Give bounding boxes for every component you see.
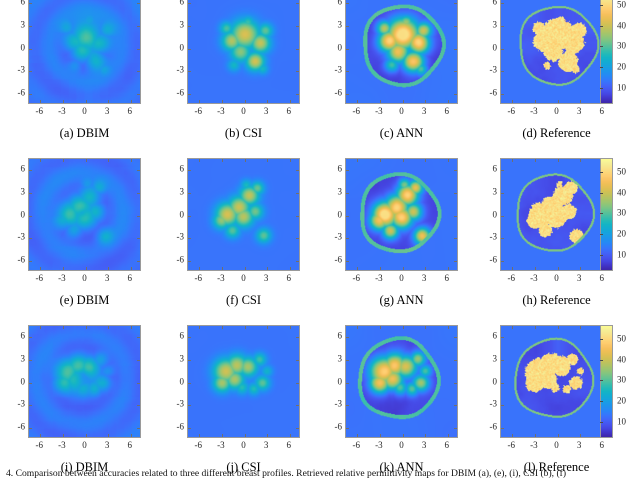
ytick-label-h--3: -3 [490, 233, 498, 242]
xtick-mark [222, 100, 223, 103]
ytick-label-l--3: -3 [490, 400, 498, 409]
ytick-mark [188, 26, 191, 27]
ytick-mark-right [137, 360, 140, 361]
ytick-mark [346, 360, 349, 361]
ytick-mark [188, 337, 191, 338]
xtick-mark [403, 434, 404, 437]
xtick-label-j-3: 3 [264, 441, 269, 450]
xtick-label-h--3: -3 [530, 274, 538, 283]
ytick-label-c-6: 6 [338, 0, 343, 7]
ytick-mark [188, 71, 191, 72]
ytick-mark [29, 3, 32, 4]
xtick-mark [40, 267, 41, 270]
xtick-mark-top [267, 159, 268, 162]
subplot-caption-g: (g) ANN [325, 293, 478, 307]
colorbar-tick-label-1-20: 20 [617, 63, 626, 72]
ytick-mark [501, 49, 504, 50]
ytick-mark-right [296, 193, 299, 194]
ytick-label-f-0: 0 [180, 210, 185, 219]
ytick-label-b--3: -3 [177, 66, 185, 75]
subplot-f-csi: -6-3036630-3-6 [187, 158, 300, 271]
xtick-mark [425, 434, 426, 437]
subplot-a-dbim: -6-3036630-3-6 [28, 0, 141, 104]
subplot-e-dbim: -6-3036630-3-6 [28, 158, 141, 271]
xtick-mark [108, 100, 109, 103]
ytick-label-a--6: -6 [18, 88, 26, 97]
colorbar-row-2: 5040302010 [600, 158, 613, 271]
ytick-label-i--6: -6 [18, 422, 26, 431]
xtick-label-f-6: 6 [286, 274, 291, 283]
ytick-mark [501, 26, 504, 27]
xtick-mark [131, 267, 132, 270]
ytick-label-a-6: 6 [21, 0, 26, 7]
ytick-mark [29, 238, 32, 239]
xtick-label-a--3: -3 [58, 107, 66, 116]
xtick-label-d-3: 3 [577, 107, 582, 116]
xtick-mark [245, 434, 246, 437]
ytick-mark [346, 170, 349, 171]
xtick-label-j-6: 6 [286, 441, 291, 450]
ytick-label-i-6: 6 [21, 332, 26, 341]
xtick-label-c-0: 0 [399, 107, 404, 116]
heatmap-image-f [187, 158, 300, 271]
colorbar-tick-label-3-40: 40 [617, 355, 626, 364]
ytick-mark [29, 405, 32, 406]
xtick-mark [558, 267, 559, 270]
ytick-mark [29, 94, 32, 95]
xtick-label-g--6: -6 [353, 274, 361, 283]
xtick-mark-top [290, 159, 291, 162]
xtick-mark [580, 434, 581, 437]
ytick-mark [29, 337, 32, 338]
ytick-mark-right [296, 337, 299, 338]
ytick-mark-right [454, 26, 457, 27]
ytick-mark [501, 360, 504, 361]
xtick-mark [86, 100, 87, 103]
xtick-label-i-0: 0 [82, 441, 87, 450]
heatmap-image-a [28, 0, 141, 104]
xtick-label-g-6: 6 [444, 274, 449, 283]
ytick-label-k-0: 0 [338, 377, 343, 386]
xtick-mark [558, 434, 559, 437]
ytick-mark [501, 261, 504, 262]
ytick-mark-right [454, 170, 457, 171]
xtick-mark-top [108, 159, 109, 162]
colorbar-tick-mark [600, 5, 603, 6]
ytick-label-j--6: -6 [177, 422, 185, 431]
ytick-label-g--6: -6 [335, 255, 343, 264]
heatmap-image-g [345, 158, 458, 271]
xtick-label-a-6: 6 [127, 107, 132, 116]
ytick-label-h--6: -6 [490, 255, 498, 264]
ytick-mark-right [137, 216, 140, 217]
ytick-label-l-3: 3 [493, 354, 498, 363]
xtick-mark [290, 100, 291, 103]
ytick-mark [501, 405, 504, 406]
xtick-mark [403, 267, 404, 270]
colorbar-tick-label-2-30: 30 [617, 209, 626, 218]
xtick-mark-top [380, 326, 381, 329]
xtick-mark [580, 100, 581, 103]
ytick-mark-right [454, 337, 457, 338]
xtick-label-f--6: -6 [195, 274, 203, 283]
ytick-label-j-6: 6 [180, 332, 185, 341]
ytick-label-a-0: 0 [21, 43, 26, 52]
ytick-label-j-3: 3 [180, 354, 185, 363]
xtick-mark-top [357, 159, 358, 162]
xtick-mark [199, 434, 200, 437]
heatmap-image-j [187, 325, 300, 438]
colorbar-tick-mark [600, 339, 603, 340]
xtick-label-g-3: 3 [422, 274, 427, 283]
subplot-c-ann: -6-3036630-3-6 [345, 0, 458, 104]
ytick-label-e-6: 6 [21, 165, 26, 174]
colorbar-tick-label-2-20: 20 [617, 230, 626, 239]
xtick-mark [512, 434, 513, 437]
ytick-mark-right [296, 383, 299, 384]
colorbar-tick-label-2-50: 50 [617, 168, 626, 177]
xtick-mark [357, 100, 358, 103]
ytick-mark [346, 238, 349, 239]
xtick-label-d--6: -6 [508, 107, 516, 116]
ytick-label-g-3: 3 [338, 187, 343, 196]
xtick-label-g--3: -3 [375, 274, 383, 283]
xtick-mark [403, 100, 404, 103]
ytick-mark [501, 383, 504, 384]
xtick-mark [40, 100, 41, 103]
xtick-mark [425, 267, 426, 270]
xtick-label-j-0: 0 [241, 441, 246, 450]
xtick-mark [267, 267, 268, 270]
xtick-mark-top [63, 159, 64, 162]
xtick-mark [558, 100, 559, 103]
subplot-caption-d: (d) Reference [480, 126, 633, 140]
ytick-label-d--6: -6 [490, 88, 498, 97]
ytick-mark [346, 216, 349, 217]
xtick-label-k--6: -6 [353, 441, 361, 450]
ytick-label-f-3: 3 [180, 187, 185, 196]
xtick-label-h-6: 6 [599, 274, 604, 283]
xtick-mark [86, 267, 87, 270]
ytick-mark-right [296, 261, 299, 262]
subplot-k-ann: -6-3036630-3-6 [345, 325, 458, 438]
ytick-label-d-0: 0 [493, 43, 498, 52]
xtick-mark [267, 434, 268, 437]
ytick-mark [501, 3, 504, 4]
heatmap-image-c [345, 0, 458, 104]
ytick-mark [346, 49, 349, 50]
ytick-mark [29, 71, 32, 72]
ytick-label-e--3: -3 [18, 233, 26, 242]
xtick-mark-top [222, 159, 223, 162]
ytick-mark-right [137, 94, 140, 95]
ytick-mark [346, 428, 349, 429]
xtick-label-l-0: 0 [554, 441, 559, 450]
xtick-mark [535, 100, 536, 103]
ytick-mark-right [137, 3, 140, 4]
ytick-label-e-3: 3 [21, 187, 26, 196]
ytick-mark [501, 193, 504, 194]
ytick-mark-right [137, 405, 140, 406]
colorbar-tick-mark [600, 234, 603, 235]
ytick-mark [188, 405, 191, 406]
subplot-h-reference: -6-3036630-3-6 [500, 158, 613, 271]
ytick-mark [188, 170, 191, 171]
xtick-mark-top [448, 326, 449, 329]
xtick-label-c-6: 6 [444, 107, 449, 116]
permittivity-map-canvas-b [188, 0, 299, 103]
colorbar-tick-label-1-40: 40 [617, 21, 626, 30]
subplot-caption-c: (c) ANN [325, 126, 478, 140]
xtick-mark [131, 100, 132, 103]
colorbar-tick-mark [600, 380, 603, 381]
xtick-mark-top [357, 326, 358, 329]
xtick-mark-top [222, 326, 223, 329]
xtick-mark [63, 100, 64, 103]
heatmap-image-i [28, 325, 141, 438]
subplot-caption-b: (b) CSI [167, 126, 320, 140]
colorbar-tick-mark [600, 67, 603, 68]
ytick-mark [188, 94, 191, 95]
xtick-mark-top [86, 326, 87, 329]
ytick-mark [29, 428, 32, 429]
ytick-mark-right [296, 428, 299, 429]
xtick-mark [448, 434, 449, 437]
ytick-label-c-3: 3 [338, 20, 343, 29]
ytick-label-d--3: -3 [490, 66, 498, 75]
xtick-mark [199, 100, 200, 103]
colorbar-tick-label-1-50: 50 [617, 1, 626, 10]
ytick-label-g-6: 6 [338, 165, 343, 174]
xtick-mark-top [425, 159, 426, 162]
xtick-mark-top [403, 326, 404, 329]
ytick-mark [501, 170, 504, 171]
xtick-mark-top [512, 159, 513, 162]
xtick-mark-top [199, 159, 200, 162]
ytick-mark-right [296, 26, 299, 27]
xtick-mark-top [131, 326, 132, 329]
ytick-mark [29, 170, 32, 171]
xtick-mark [199, 267, 200, 270]
xtick-label-d-6: 6 [599, 107, 604, 116]
xtick-label-f--3: -3 [217, 274, 225, 283]
xtick-mark [380, 434, 381, 437]
ytick-mark [501, 337, 504, 338]
xtick-mark [535, 267, 536, 270]
ytick-label-k-6: 6 [338, 332, 343, 341]
subplot-caption-a: (a) DBIM [8, 126, 161, 140]
ytick-mark [188, 261, 191, 262]
ytick-mark [501, 94, 504, 95]
subplot-j-csi: -6-3036630-3-6 [187, 325, 300, 438]
xtick-mark-top [380, 159, 381, 162]
xtick-label-c--6: -6 [353, 107, 361, 116]
xtick-mark [222, 434, 223, 437]
colorbar-tick-mark [600, 255, 603, 256]
ytick-mark-right [454, 71, 457, 72]
xtick-mark-top [267, 326, 268, 329]
permittivity-map-canvas-g [346, 159, 457, 270]
ytick-label-b-6: 6 [180, 0, 185, 7]
ytick-mark [501, 238, 504, 239]
ytick-mark-right [296, 49, 299, 50]
ytick-mark [188, 428, 191, 429]
xtick-mark [448, 100, 449, 103]
xtick-mark [131, 434, 132, 437]
ytick-mark [29, 383, 32, 384]
ytick-label-c--3: -3 [335, 66, 343, 75]
xtick-label-f-0: 0 [241, 274, 246, 283]
xtick-mark [108, 267, 109, 270]
permittivity-map-canvas-k [346, 326, 457, 437]
xtick-label-b-0: 0 [241, 107, 246, 116]
subplot-b-csi: -6-3036630-3-6 [187, 0, 300, 104]
xtick-mark [245, 267, 246, 270]
subplot-i-dbim: -6-3036630-3-6 [28, 325, 141, 438]
xtick-label-a--6: -6 [36, 107, 44, 116]
colorbar-tick-label-2-40: 40 [617, 188, 626, 197]
subplot-d-reference: -6-3036630-3-6 [500, 0, 613, 104]
ytick-mark [346, 383, 349, 384]
xtick-mark [245, 100, 246, 103]
ytick-label-f--3: -3 [177, 233, 185, 242]
heatmap-image-b [187, 0, 300, 104]
permittivity-map-canvas-l [501, 326, 612, 437]
permittivity-map-canvas-e [29, 159, 140, 270]
ytick-mark [188, 193, 191, 194]
xtick-mark [40, 434, 41, 437]
xtick-label-j--6: -6 [195, 441, 203, 450]
ytick-label-i-0: 0 [21, 377, 26, 386]
xtick-label-l--6: -6 [508, 441, 516, 450]
ytick-mark [346, 261, 349, 262]
ytick-mark-right [137, 238, 140, 239]
xtick-mark-top [63, 326, 64, 329]
xtick-mark [267, 100, 268, 103]
ytick-mark-right [296, 405, 299, 406]
ytick-mark-right [454, 261, 457, 262]
xtick-label-j--3: -3 [217, 441, 225, 450]
xtick-mark-top [580, 159, 581, 162]
ytick-mark [29, 193, 32, 194]
xtick-mark-top [535, 159, 536, 162]
figure-comparison-permittivity-maps: (a) DBIM-6-3036630-3-6(b) CSI-6-3036630-… [0, 0, 640, 477]
subplot-caption-e: (e) DBIM [8, 293, 161, 307]
colorbar-canvas [601, 326, 612, 437]
xtick-mark-top [86, 159, 87, 162]
ytick-label-c--6: -6 [335, 88, 343, 97]
ytick-label-j-0: 0 [180, 377, 185, 386]
ytick-mark-right [454, 428, 457, 429]
subplot-g-ann: -6-3036630-3-6 [345, 158, 458, 271]
xtick-label-a-0: 0 [82, 107, 87, 116]
ytick-label-h-3: 3 [493, 187, 498, 196]
subplot-caption-h: (h) Reference [480, 293, 633, 307]
colorbar-tick-mark [600, 26, 603, 27]
xtick-mark [63, 267, 64, 270]
ytick-label-l-6: 6 [493, 332, 498, 341]
ytick-mark [346, 71, 349, 72]
ytick-mark [346, 26, 349, 27]
ytick-mark [188, 383, 191, 384]
ytick-mark-right [137, 261, 140, 262]
ytick-mark-right [137, 337, 140, 338]
xtick-label-f-3: 3 [264, 274, 269, 283]
ytick-mark-right [137, 193, 140, 194]
ytick-mark [501, 216, 504, 217]
xtick-label-d--3: -3 [530, 107, 538, 116]
colorbar-canvas [601, 159, 612, 270]
subplot-l-reference: -6-3036630-3-6 [500, 325, 613, 438]
ytick-label-k-3: 3 [338, 354, 343, 363]
colorbar-tick-mark [600, 172, 603, 173]
xtick-label-c-3: 3 [422, 107, 427, 116]
ytick-label-f-6: 6 [180, 165, 185, 174]
ytick-mark [346, 405, 349, 406]
xtick-label-i-6: 6 [127, 441, 132, 450]
xtick-mark-top [448, 159, 449, 162]
ytick-label-f--6: -6 [177, 255, 185, 264]
xtick-label-b--6: -6 [195, 107, 203, 116]
colorbar-tick-mark [600, 193, 603, 194]
permittivity-map-canvas-j [188, 326, 299, 437]
ytick-mark-right [296, 71, 299, 72]
colorbar-tick-mark [600, 401, 603, 402]
xtick-label-h-0: 0 [554, 274, 559, 283]
xtick-mark-top [558, 159, 559, 162]
colorbar-row-1: 5040302010 [600, 0, 613, 104]
colorbar-tick-label-1-10: 10 [617, 83, 626, 92]
ytick-mark-right [296, 94, 299, 95]
xtick-label-c--3: -3 [375, 107, 383, 116]
xtick-mark [290, 434, 291, 437]
ytick-label-d-6: 6 [493, 0, 498, 7]
xtick-mark [357, 267, 358, 270]
xtick-label-k--3: -3 [375, 441, 383, 450]
xtick-mark [425, 100, 426, 103]
ytick-label-e--6: -6 [18, 255, 26, 264]
xtick-label-b--3: -3 [217, 107, 225, 116]
xtick-label-h--6: -6 [508, 274, 516, 283]
permittivity-map-canvas-h [501, 159, 612, 270]
ytick-mark [501, 428, 504, 429]
xtick-label-e--6: -6 [36, 274, 44, 283]
permittivity-map-canvas-d [501, 0, 612, 103]
xtick-mark-top [108, 326, 109, 329]
xtick-label-k-3: 3 [422, 441, 427, 450]
permittivity-map-canvas-i [29, 326, 140, 437]
subplot-caption-f: (f) CSI [167, 293, 320, 307]
ytick-label-j--3: -3 [177, 400, 185, 409]
colorbar-tick-label-3-30: 30 [617, 376, 626, 385]
ytick-mark-right [137, 49, 140, 50]
ytick-mark-right [137, 428, 140, 429]
colorbar-row-3: 5040302010 [600, 325, 613, 438]
xtick-mark [357, 434, 358, 437]
ytick-mark [188, 3, 191, 4]
ytick-mark [188, 360, 191, 361]
ytick-label-l-0: 0 [493, 377, 498, 386]
xtick-mark-top [199, 326, 200, 329]
heatmap-image-h [500, 158, 613, 271]
permittivity-map-canvas-a [29, 0, 140, 103]
ytick-mark-right [454, 3, 457, 4]
ytick-label-i-3: 3 [21, 354, 26, 363]
ytick-label-h-6: 6 [493, 165, 498, 174]
ytick-mark-right [454, 238, 457, 239]
colorbar-tick-mark [600, 213, 603, 214]
ytick-label-e-0: 0 [21, 210, 26, 219]
